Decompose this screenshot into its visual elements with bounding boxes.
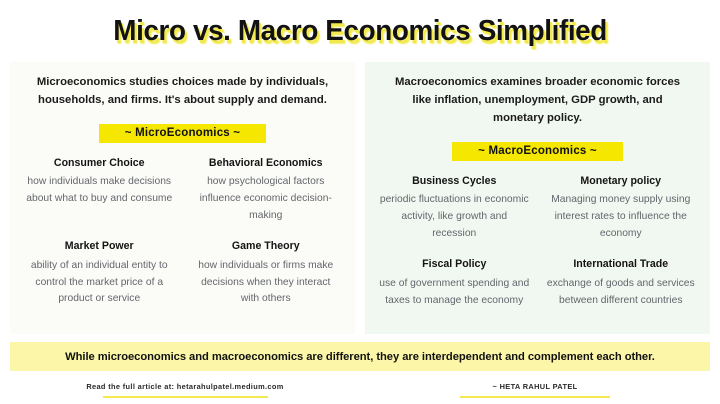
- micro-chip-wrap: ~ MicroEconomics ~: [99, 123, 266, 143]
- summary-banner-text: While microeconomics and macroeconomics …: [65, 351, 655, 363]
- title-bar: Micro vs. Macro Economics Simplified: [0, 0, 720, 62]
- item-term: Consumer Choice: [24, 157, 175, 170]
- item-term: International Trade: [546, 258, 697, 271]
- article-credit-text[interactable]: Read the full article at: hetarahulpatel…: [10, 382, 360, 391]
- item-term: Market Power: [24, 240, 175, 253]
- page-title: Micro vs. Macro Economics Simplified: [113, 15, 607, 48]
- item-term: Fiscal Policy: [379, 258, 530, 271]
- micro-item: Consumer Choice how individuals make dec…: [18, 157, 181, 225]
- item-description: periodic fluctuations in economic activi…: [379, 192, 530, 242]
- item-description: how individuals or firms make decisions …: [191, 258, 342, 308]
- macro-economics-chip: ~ MacroEconomics ~: [452, 142, 623, 161]
- item-description: use of government spending and taxes to …: [379, 276, 530, 309]
- credits-row: Read the full article at: hetarahulpatel…: [0, 382, 720, 398]
- macro-intro-text: Macroeconomics examines broader economic…: [388, 74, 688, 128]
- micro-items-grid: Consumer Choice how individuals make dec…: [18, 157, 347, 308]
- micro-item: Game Theory how individuals or firms mak…: [185, 240, 348, 308]
- macro-items-grid: Business Cycles periodic fluctuations in…: [373, 175, 702, 310]
- item-term: Monetary policy: [546, 175, 697, 188]
- micro-intro-text: Microeconomics studies choices made by i…: [33, 74, 333, 110]
- author-credit: ~ HETA RAHUL PATEL: [360, 382, 710, 398]
- item-description: how individuals make decisions about wha…: [24, 174, 175, 207]
- panel-macroeconomics: Macroeconomics examines broader economic…: [365, 62, 710, 334]
- item-description: how psychological factors influence econ…: [191, 174, 342, 224]
- micro-item: Behavioral Economics how psychological f…: [185, 157, 348, 225]
- item-description: exchange of goods and services between d…: [546, 276, 697, 309]
- item-description: ability of an individual entity to contr…: [24, 258, 175, 308]
- summary-banner: While microeconomics and macroeconomics …: [10, 342, 710, 371]
- article-credit[interactable]: Read the full article at: hetarahulpatel…: [10, 382, 360, 398]
- macro-item: Business Cycles periodic fluctuations in…: [373, 175, 536, 243]
- micro-economics-chip: ~ MicroEconomics ~: [99, 124, 266, 143]
- macro-item: International Trade exchange of goods an…: [540, 258, 703, 309]
- macro-item: Fiscal Policy use of government spending…: [373, 258, 536, 309]
- panel-microeconomics: Microeconomics studies choices made by i…: [10, 62, 355, 334]
- panels-container: Microeconomics studies choices made by i…: [0, 62, 720, 334]
- author-credit-underline: [460, 396, 610, 398]
- item-term: Behavioral Economics: [191, 157, 342, 170]
- author-credit-text: ~ HETA RAHUL PATEL: [360, 382, 710, 391]
- item-term: Game Theory: [191, 240, 342, 253]
- item-term: Business Cycles: [379, 175, 530, 188]
- micro-item: Market Power ability of an individual en…: [18, 240, 181, 308]
- macro-item: Monetary policy Managing money supply us…: [540, 175, 703, 243]
- article-credit-underline: [103, 396, 268, 398]
- macro-chip-wrap: ~ MacroEconomics ~: [452, 141, 623, 161]
- item-description: Managing money supply using interest rat…: [546, 192, 697, 242]
